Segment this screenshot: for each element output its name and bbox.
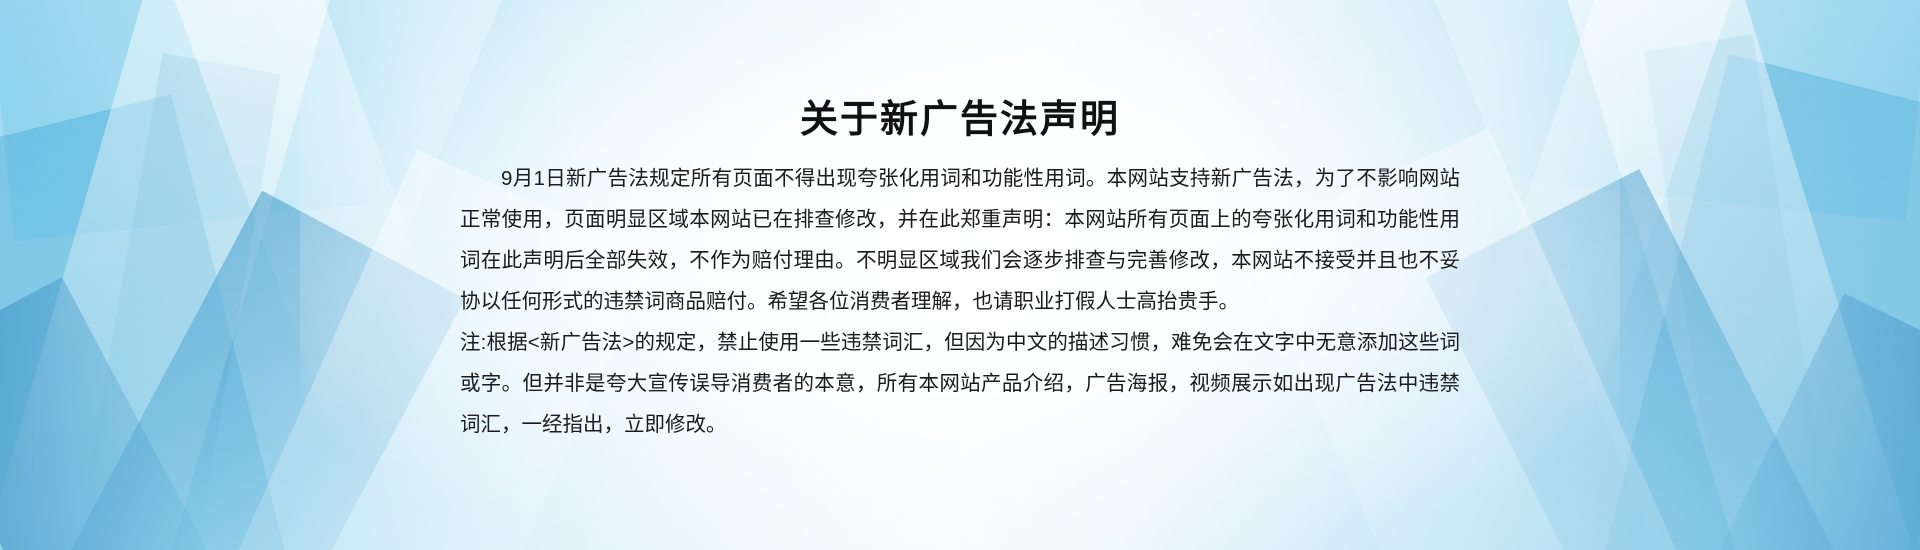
statement-paragraph-note: 注:根据<新广告法>的规定，禁止使用一些违禁词汇，但因为中文的描述习惯，难免会在… [460, 322, 1460, 445]
statement-content: 关于新广告法声明 9月1日新广告法规定所有页面不得出现夸张化用词和功能性用词。本… [0, 0, 1920, 550]
page-title: 关于新广告法声明 [0, 88, 1920, 143]
statement-body: 9月1日新广告法规定所有页面不得出现夸张化用词和功能性用词。本网站支持新广告法，… [460, 158, 1460, 445]
advertising-law-statement-banner: 关于新广告法声明 9月1日新广告法规定所有页面不得出现夸张化用词和功能性用词。本… [0, 0, 1920, 550]
statement-paragraph-main: 9月1日新广告法规定所有页面不得出现夸张化用词和功能性用词。本网站支持新广告法，… [460, 158, 1460, 322]
